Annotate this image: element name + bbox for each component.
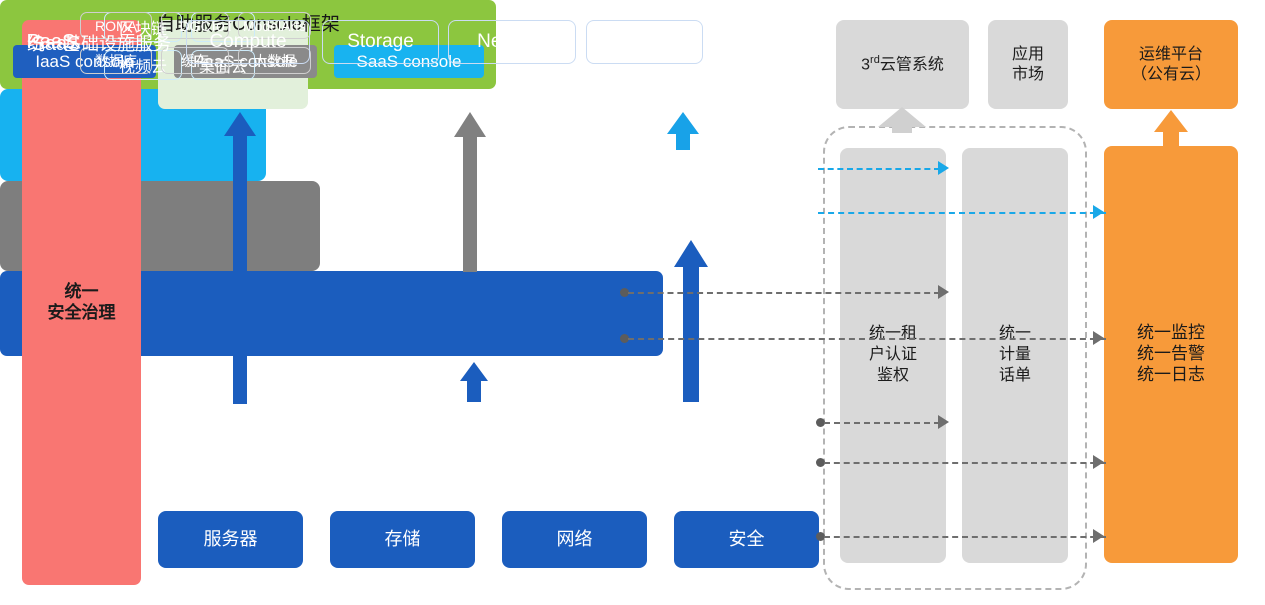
arrowhead-saas-to-auth — [938, 161, 949, 175]
unified-metering-billing-label: 统一计量话单 — [999, 324, 1031, 386]
arrowhead-infra-to-unified-ops — [1093, 455, 1104, 469]
unified-security-governance-label: 统一安全治理 — [48, 282, 116, 323]
arrow-paas-to-console — [452, 112, 488, 272]
arrow-infra-to-paas — [458, 362, 490, 402]
arrowhead-paas-to-unified-ops — [1093, 331, 1104, 345]
arrow-unified-ops-to-ops-platform — [1152, 110, 1190, 148]
hardware-storage-block: 存储 — [330, 511, 475, 568]
arrowhead-infra-to-auth — [938, 415, 949, 429]
arrow-shared-services-to-third-party-cloud — [876, 107, 928, 133]
ops-platform-public-cloud-label: 运维平台（公有云） — [1131, 45, 1211, 84]
unified-tenant-auth-label: 统一租户认证鉴权 — [869, 324, 917, 386]
arrowhead-saas-to-unified-ops — [1093, 205, 1104, 219]
ops-platform-public-cloud-block: 运维平台（公有云） — [1104, 20, 1238, 109]
infra-service-compute[interactable]: Compute — [186, 20, 310, 64]
third-party-cloud-management-block: 3rd云管系统 — [836, 20, 969, 109]
dashed-connector-infra-to-auth — [824, 422, 940, 424]
dashed-connector-paas-to-unified-ops — [628, 338, 1106, 340]
app-market-block: 应用市场 — [988, 20, 1068, 109]
dashed-connector-saas-to-unified-ops — [818, 212, 1106, 214]
unified-monitoring-alarm-log-label: 统一监控统一告警统一日志 — [1137, 323, 1205, 385]
dashed-connector-paas-to-auth — [628, 292, 940, 294]
infra-service-network[interactable]: Network — [448, 20, 576, 64]
dashed-connector-hardware-to-unified-ops — [824, 536, 1106, 538]
infra-service-storage[interactable]: Storage — [322, 20, 439, 64]
architecture-diagram-canvas: 统一安全治理 API网关 自助服务Console框架 IaaS console … — [0, 0, 1265, 605]
hardware-security-block: 安全 — [674, 511, 819, 568]
unified-tenant-auth-block: 统一租户认证鉴权 — [840, 148, 946, 563]
infra-service-cce[interactable]: CCE — [586, 20, 703, 64]
arrowhead-paas-to-auth — [938, 285, 949, 299]
dashed-connector-saas-to-auth — [818, 168, 940, 170]
arrow-infra-to-saas — [672, 240, 710, 402]
unified-security-governance-block: 统一安全治理 — [22, 20, 141, 585]
unified-infrastructure-service-label: 统一基础设施服务 — [14, 30, 184, 56]
dashed-connector-infra-to-unified-ops — [824, 462, 1106, 464]
hardware-network-block: 网络 — [502, 511, 647, 568]
arrow-saas-to-console — [665, 112, 701, 150]
arrow-infra-to-api-gateway — [222, 112, 258, 404]
hardware-server-block: 服务器 — [158, 511, 303, 568]
third-party-cloud-management-label: 3rd云管系统 — [861, 54, 944, 75]
unified-monitoring-alarm-log-block: 统一监控统一告警统一日志 — [1104, 146, 1238, 563]
arrowhead-hardware-to-unified-ops — [1093, 529, 1104, 543]
app-market-label: 应用市场 — [1012, 45, 1044, 84]
unified-metering-billing-block: 统一计量话单 — [962, 148, 1068, 563]
